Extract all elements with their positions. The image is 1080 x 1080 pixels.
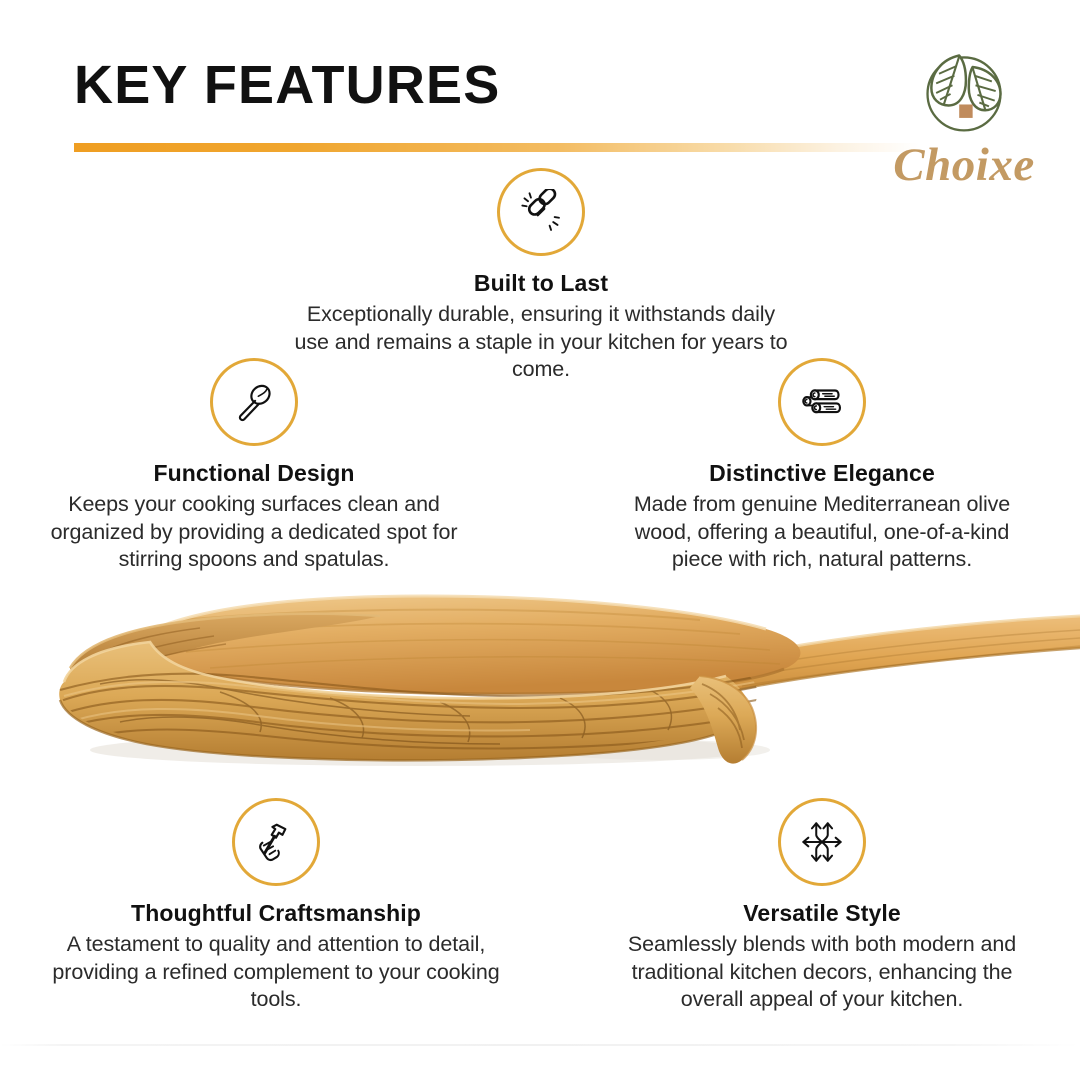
feature-icon-circle xyxy=(232,798,320,886)
bottom-divider xyxy=(0,1044,1080,1046)
feature-icon-circle xyxy=(778,358,866,446)
page-title: KEY FEATURES xyxy=(74,58,500,112)
four-way-arrows-icon xyxy=(799,819,845,865)
spoon-icon xyxy=(231,379,277,425)
hand-holding-hammer-icon xyxy=(253,819,299,865)
feature-title: Thoughtful Craftsmanship xyxy=(48,900,504,926)
feature-description: Made from genuine Mediterranean olive wo… xyxy=(608,491,1036,574)
olive-wood-spoon-rest-image xyxy=(0,572,1080,794)
feature-description: A testament to quality and attention to … xyxy=(48,931,504,1014)
chain-link-icon xyxy=(518,189,564,235)
product-photo xyxy=(0,572,1080,794)
wood-logs-icon xyxy=(799,379,845,425)
brand-wordmark: Choixe xyxy=(890,142,1038,189)
feature-description: Keeps your cooking surfaces clean and or… xyxy=(48,491,460,574)
feature-thoughtful-craftsmanship: Thoughtful Craftsmanship A testament to … xyxy=(48,798,504,1014)
feature-title: Built to Last xyxy=(290,270,792,296)
feature-title: Functional Design xyxy=(48,460,460,486)
feature-versatile-style: Versatile Style Seamlessly blends with b… xyxy=(608,798,1036,1014)
brand-logo: Choixe xyxy=(890,44,1038,189)
two-leaves-in-circle-logo-icon xyxy=(916,44,1012,140)
feature-icon-circle xyxy=(497,168,585,256)
feature-built-to-last: Built to Last Exceptionally durable, ens… xyxy=(290,168,792,384)
feature-title: Versatile Style xyxy=(608,900,1036,926)
feature-description: Seamlessly blends with both modern and t… xyxy=(608,931,1036,1014)
feature-icon-circle xyxy=(210,358,298,446)
feature-distinctive-elegance: Distinctive Elegance Made from genuine M… xyxy=(608,358,1036,574)
feature-icon-circle xyxy=(778,798,866,886)
feature-title: Distinctive Elegance xyxy=(608,460,1036,486)
feature-functional-design: Functional Design Keeps your cooking sur… xyxy=(48,358,460,574)
